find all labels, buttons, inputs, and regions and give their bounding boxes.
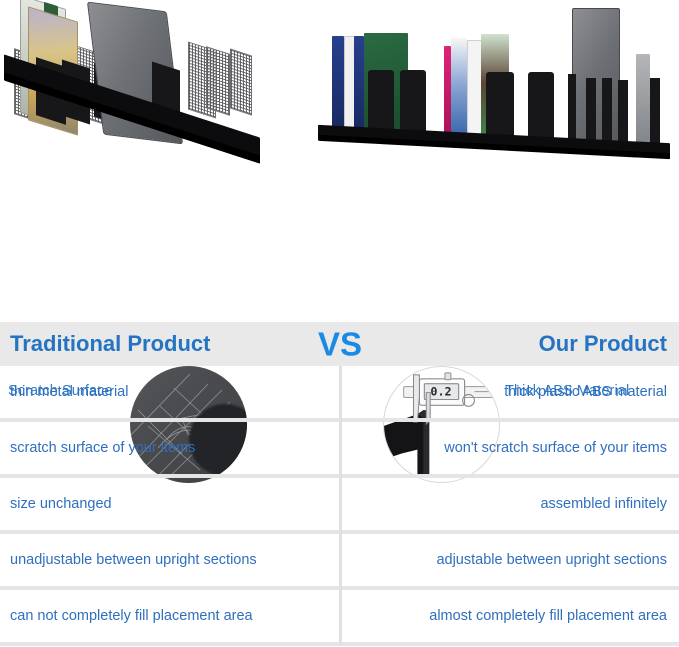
comparison-rows: thin metal material thick plastic ABS ma… <box>0 366 679 646</box>
cell-ours: won't scratch surface of your items <box>340 422 679 474</box>
mesh-divider <box>206 46 230 116</box>
book-blue <box>451 38 467 142</box>
cell-ours: adjustable between upright sections <box>340 534 679 586</box>
notebook-pink <box>444 46 451 142</box>
header-our-product: Our Product <box>539 331 667 357</box>
cell-ours: thick plastic ABS material <box>340 366 679 418</box>
cell-traditional: thin metal material <box>0 366 340 418</box>
laptop <box>572 8 620 150</box>
table-row: scratch surface of your items won't scra… <box>0 422 679 478</box>
cell-ours: almost completely fill placement area <box>340 590 679 642</box>
binder-blue <box>332 36 344 140</box>
cell-ours: assembled infinitely <box>340 478 679 530</box>
feature-callouts: Scratch Surface <box>0 180 679 315</box>
comparison-table: Traditional Product VS Our Product thin … <box>0 322 679 646</box>
table-row: unadjustable between upright sections ad… <box>0 534 679 590</box>
table-row: size unchanged assembled infinitely <box>0 478 679 534</box>
mesh-divider <box>230 48 252 115</box>
product-photos <box>0 0 679 180</box>
binder-blue <box>354 36 364 140</box>
table-row: thin metal material thick plastic ABS ma… <box>0 366 679 422</box>
tablet <box>636 54 650 152</box>
cell-traditional: size unchanged <box>0 478 340 530</box>
abs-divider <box>528 72 554 146</box>
header-traditional-product: Traditional Product <box>10 331 210 357</box>
vs-label: VS <box>318 328 362 361</box>
cell-traditional: scratch surface of your items <box>0 422 340 474</box>
cell-traditional: can not completely fill placement area <box>0 590 340 642</box>
comparison-header: Traditional Product VS Our Product <box>0 322 679 366</box>
our-product-photo <box>310 0 679 180</box>
cell-traditional: unadjustable between upright sections <box>0 534 340 586</box>
traditional-product-photo <box>0 0 310 180</box>
table-row: can not completely fill placement area a… <box>0 590 679 646</box>
